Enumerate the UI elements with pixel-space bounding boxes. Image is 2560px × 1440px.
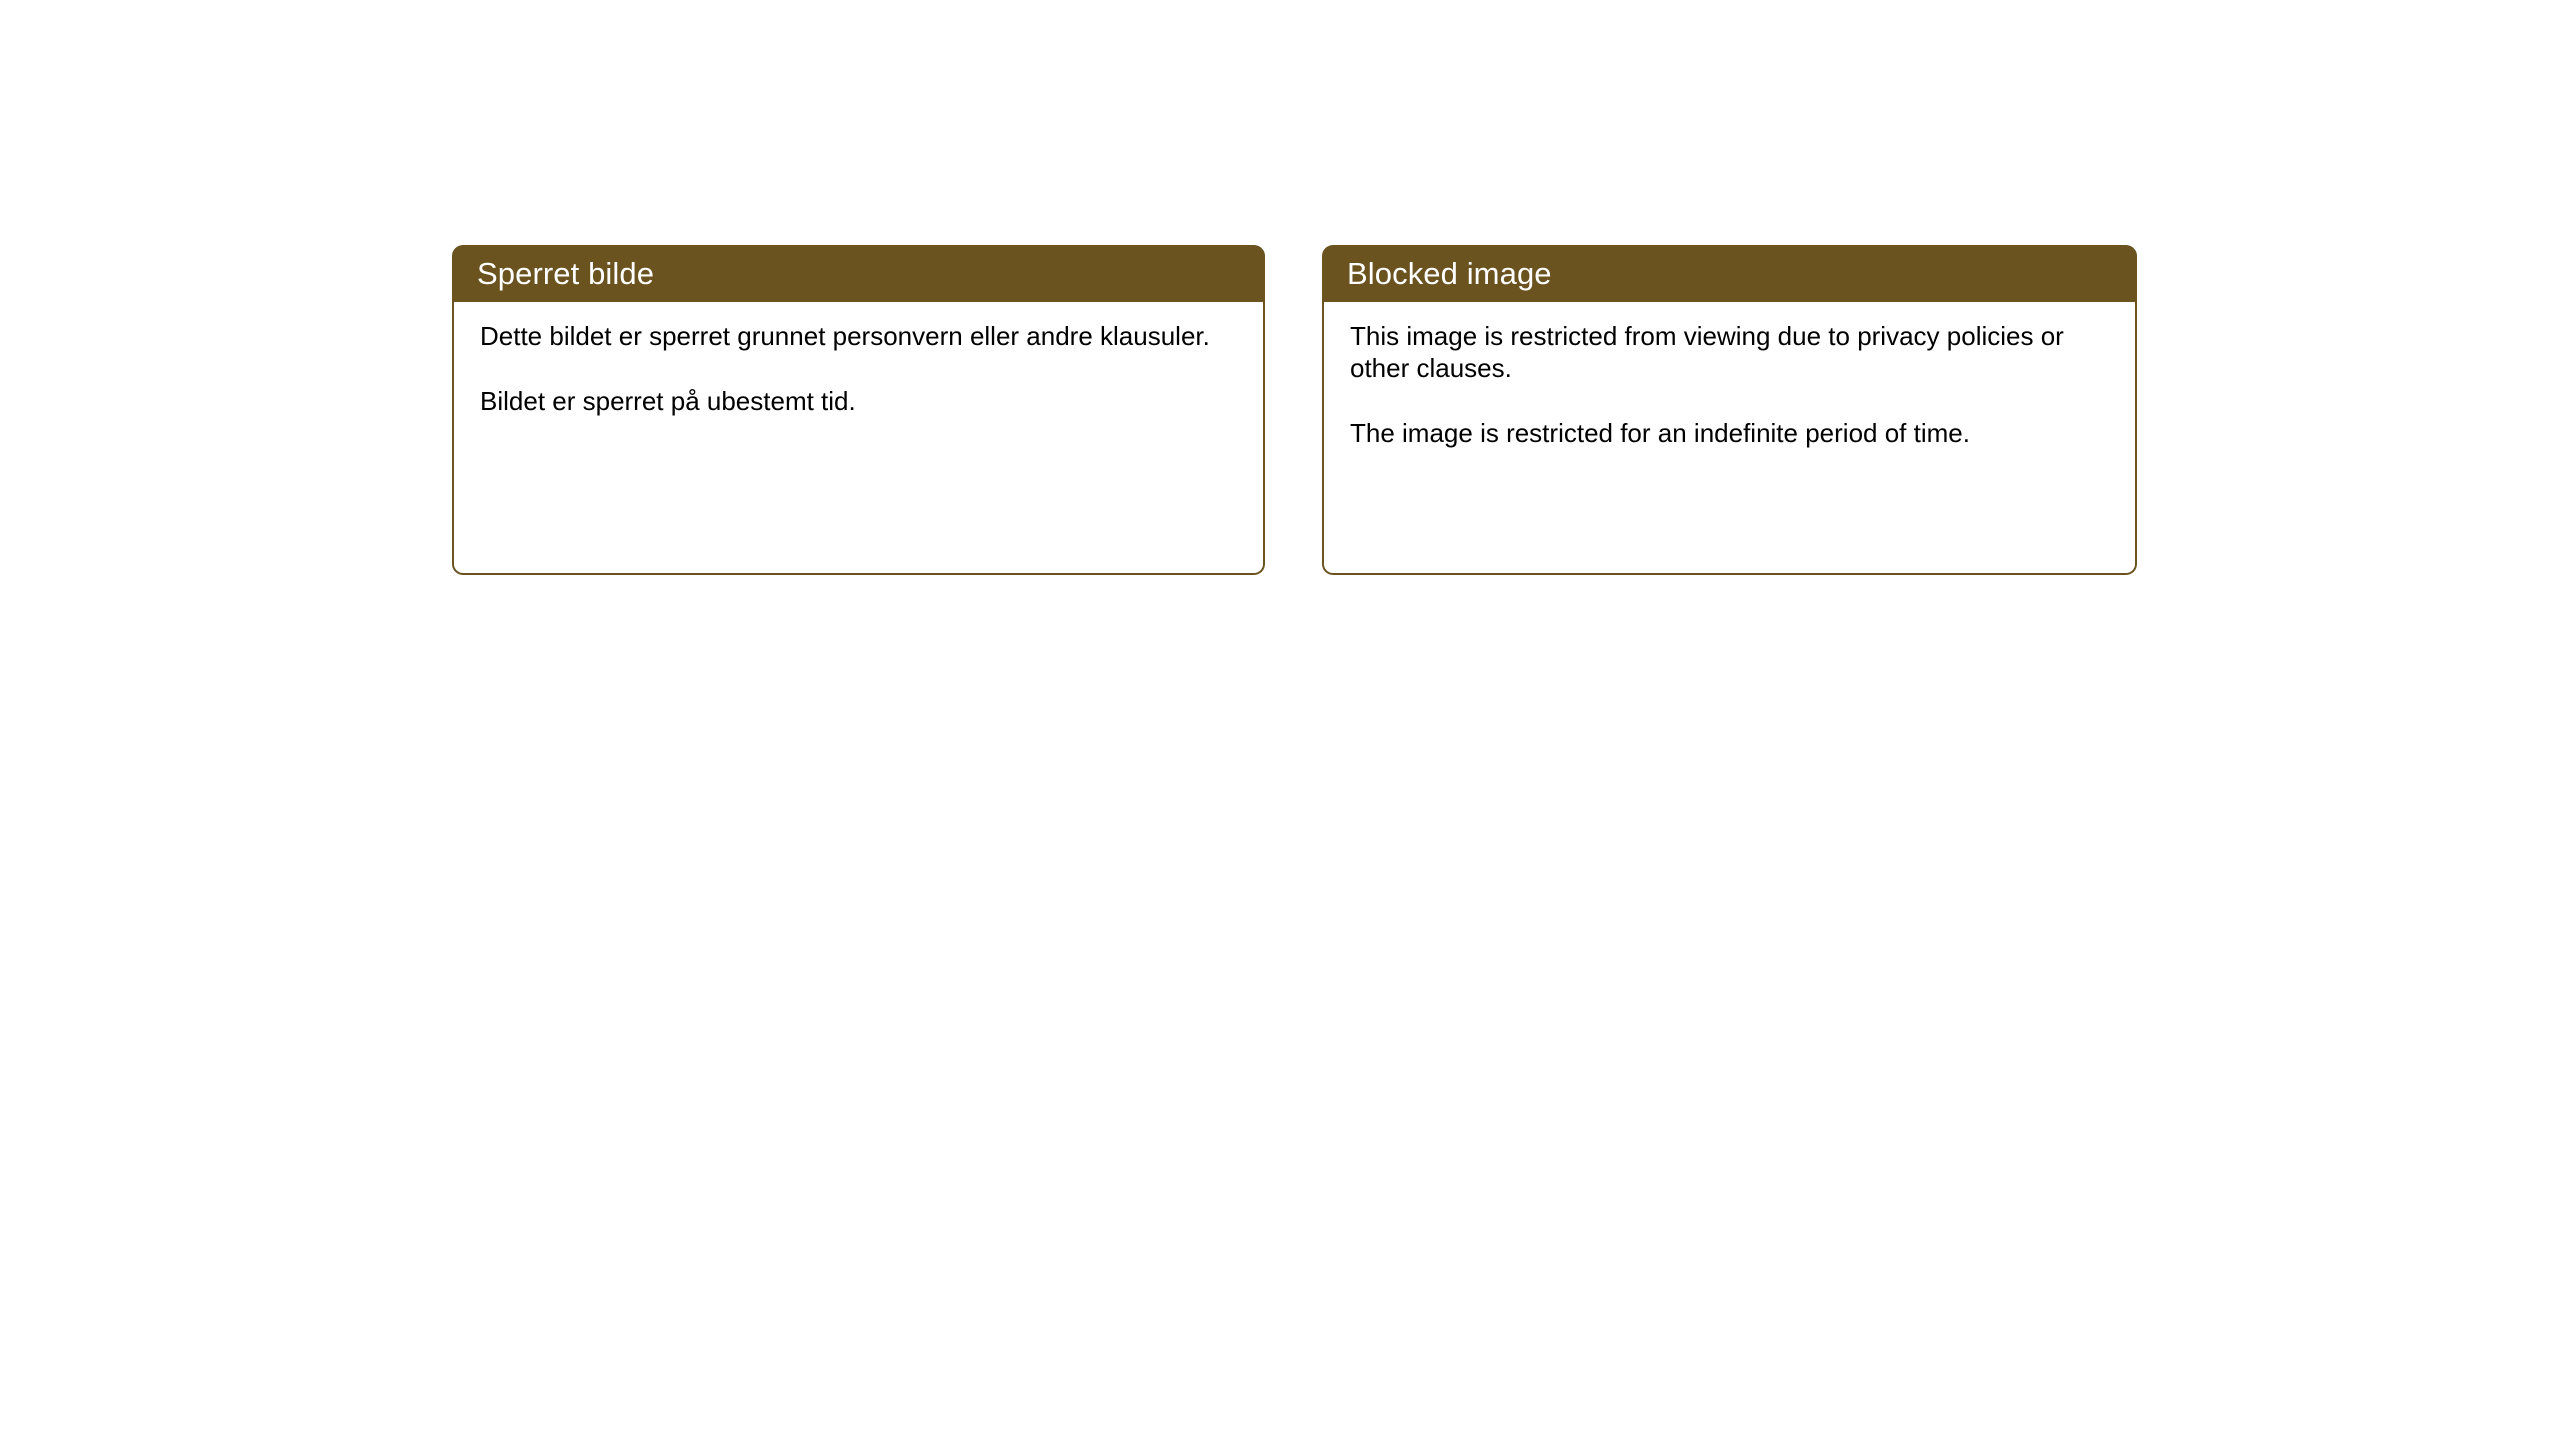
card-body-norwegian: Dette bildet er sperret grunnet personve… <box>452 302 1265 575</box>
card-title-english: Blocked image <box>1347 258 1552 289</box>
paragraph-spacer <box>480 352 1237 385</box>
paragraph-spacer <box>1350 384 2109 417</box>
card-header-english: Blocked image <box>1322 245 2137 302</box>
card-paragraph-secondary-english: The image is restricted for an indefinit… <box>1350 417 2109 449</box>
blocked-image-notice-card-english: Blocked image This image is restricted f… <box>1322 245 2137 575</box>
card-header-norwegian: Sperret bilde <box>452 245 1265 302</box>
page-root: Sperret bilde Dette bildet er sperret gr… <box>0 0 2560 1440</box>
card-paragraph-primary-norwegian: Dette bildet er sperret grunnet personve… <box>480 320 1237 352</box>
card-body-english: This image is restricted from viewing du… <box>1322 302 2137 575</box>
card-paragraph-primary-english: This image is restricted from viewing du… <box>1350 320 2109 384</box>
card-paragraph-secondary-norwegian: Bildet er sperret på ubestemt tid. <box>480 385 1237 417</box>
card-title-norwegian: Sperret bilde <box>477 258 654 289</box>
blocked-image-notice-card-norwegian: Sperret bilde Dette bildet er sperret gr… <box>452 245 1265 575</box>
